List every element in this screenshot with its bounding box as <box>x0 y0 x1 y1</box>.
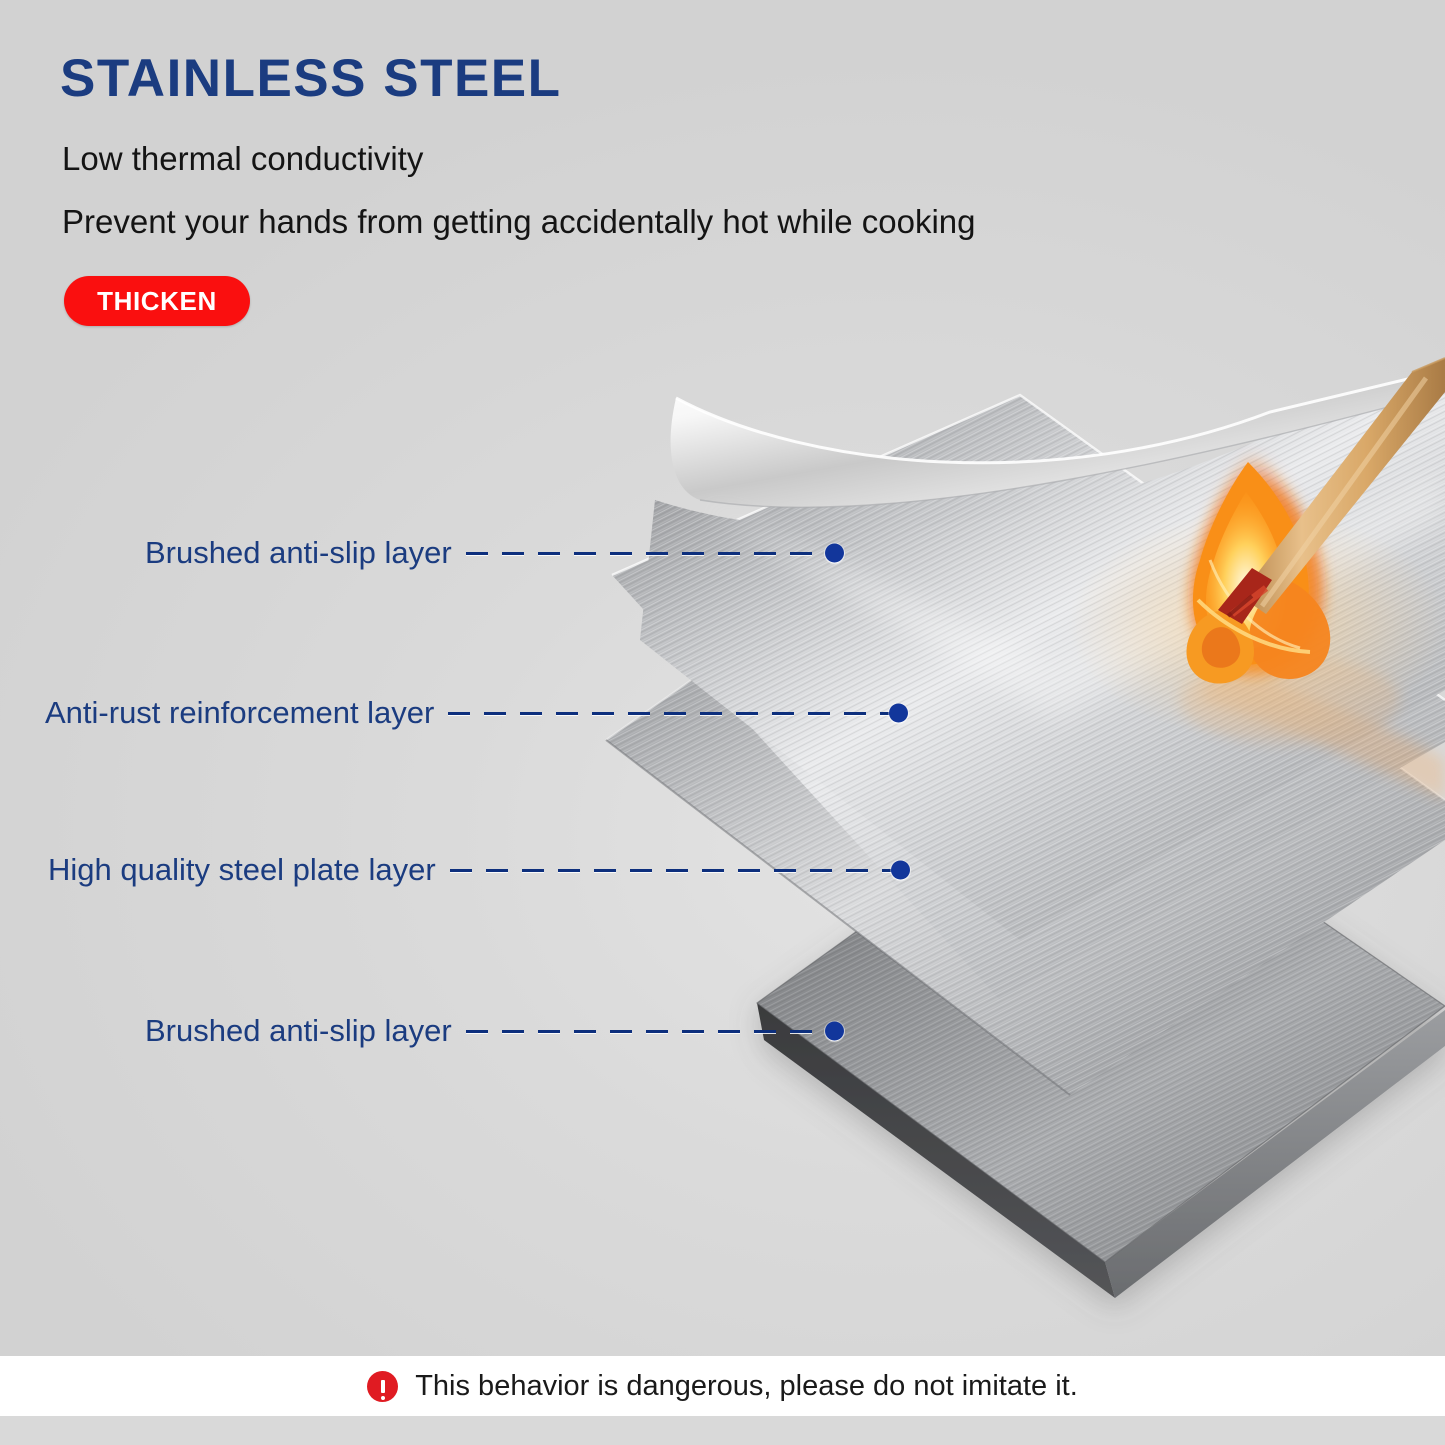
callout-brushed-anti-slip-bottom: Brushed anti-slip layer <box>145 1011 836 1051</box>
bottom-background-strip <box>0 1416 1445 1445</box>
subtitle-secondary: Prevent your hands from getting accident… <box>62 203 976 241</box>
page-title: STAINLESS STEEL <box>60 52 562 105</box>
leader-line <box>466 552 836 555</box>
warning-band: This behavior is dangerous, please do no… <box>0 1356 1445 1416</box>
callout-high-quality-steel-plate: High quality steel plate layer <box>48 850 902 890</box>
leader-dot <box>889 704 908 723</box>
subtitle-primary: Low thermal conductivity <box>62 140 423 178</box>
callout-label: Anti-rust reinforcement layer <box>45 695 434 731</box>
leader-line <box>466 1030 836 1033</box>
callout-brushed-anti-slip-top: Brushed anti-slip layer <box>145 533 836 573</box>
callout-anti-rust-reinforcement: Anti-rust reinforcement layer <box>45 693 900 733</box>
exclamation-circle-icon <box>367 1371 398 1402</box>
leader-dot <box>825 1022 844 1041</box>
callout-label: High quality steel plate layer <box>48 852 436 888</box>
leader-line <box>450 869 902 872</box>
product-infographic: STAINLESS STEEL Low thermal conductivity… <box>0 0 1445 1445</box>
thicken-badge: THICKEN <box>64 276 250 326</box>
leader-dot <box>825 544 844 563</box>
warning-text: This behavior is dangerous, please do no… <box>415 1370 1078 1403</box>
leader-line <box>448 712 900 715</box>
callout-label: Brushed anti-slip layer <box>145 535 452 571</box>
leader-dot <box>891 861 910 880</box>
thicken-badge-label: THICKEN <box>97 286 217 317</box>
callout-label: Brushed anti-slip layer <box>145 1013 452 1049</box>
